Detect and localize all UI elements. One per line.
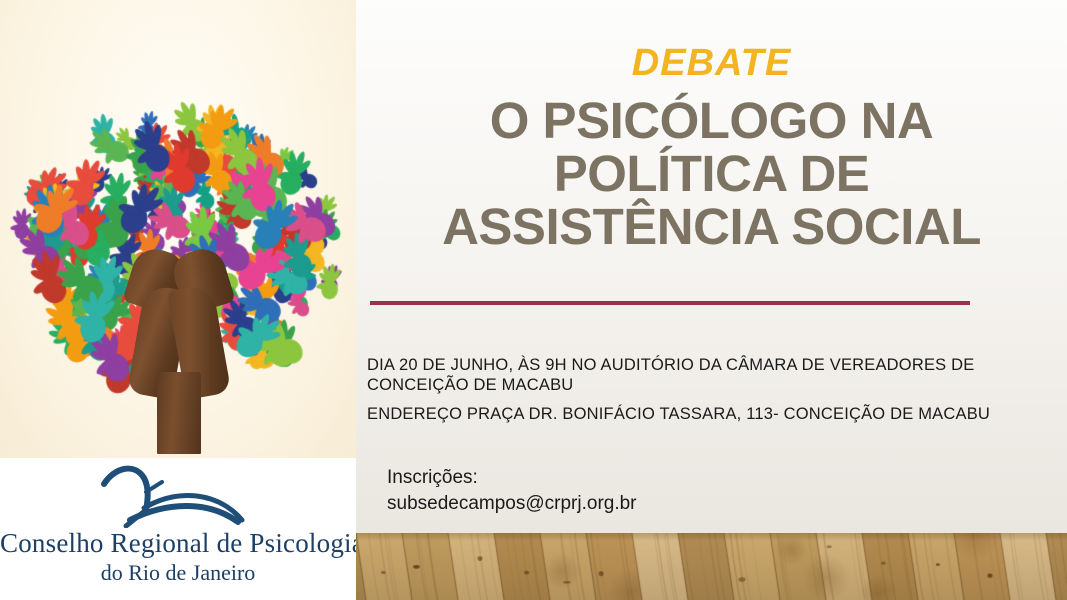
poster-headline: O PSICÓLOGO NA POLÍTICA DE ASSISTÊNCIA S… — [356, 94, 1067, 253]
headline-line-3: ASSISTÊNCIA SOCIAL — [356, 200, 1067, 253]
signup-email[interactable]: subsedecampos@crprj.org.br — [387, 491, 987, 517]
left-image-panel: Conselho Regional de Psicologia do Rio d… — [0, 0, 356, 600]
hand-print-tree-illustration — [0, 0, 356, 458]
signup-block: Inscrições: subsedecampos@crprj.org.br — [387, 465, 987, 517]
event-poster: Conselho Regional de Psicologia do Rio d… — [0, 0, 1067, 600]
wooden-floor-photo — [356, 533, 1067, 600]
right-content-panel: DEBATE O PSICÓLOGO NA POLÍTICA DE ASSIST… — [356, 0, 1067, 600]
kicker-debate: DEBATE — [356, 44, 1067, 82]
wooden-floor-canvas — [356, 533, 1067, 600]
crp-rj-bird-book-logo — [96, 462, 266, 528]
horizontal-divider-rule — [370, 301, 970, 305]
tree-trunk-base — [157, 372, 201, 454]
logo-text-line2: do Rio de Janeiro — [0, 560, 356, 586]
crp-rj-logo-block: Conselho Regional de Psicologia do Rio d… — [0, 458, 356, 600]
logo-text-line1: Conselho Regional de Psicologia — [0, 528, 356, 559]
headline-line-1: O PSICÓLOGO NA — [356, 94, 1067, 147]
signup-label: Inscrições: — [387, 465, 987, 491]
event-datetime-location: DIA 20 DE JUNHO, ÀS 9H NO AUDITÓRIO DA C… — [367, 355, 1057, 395]
headline-line-2: POLÍTICA DE — [356, 147, 1067, 200]
event-address: ENDEREÇO PRAÇA DR. BONIFÁCIO TASSARA, 11… — [367, 404, 1057, 424]
